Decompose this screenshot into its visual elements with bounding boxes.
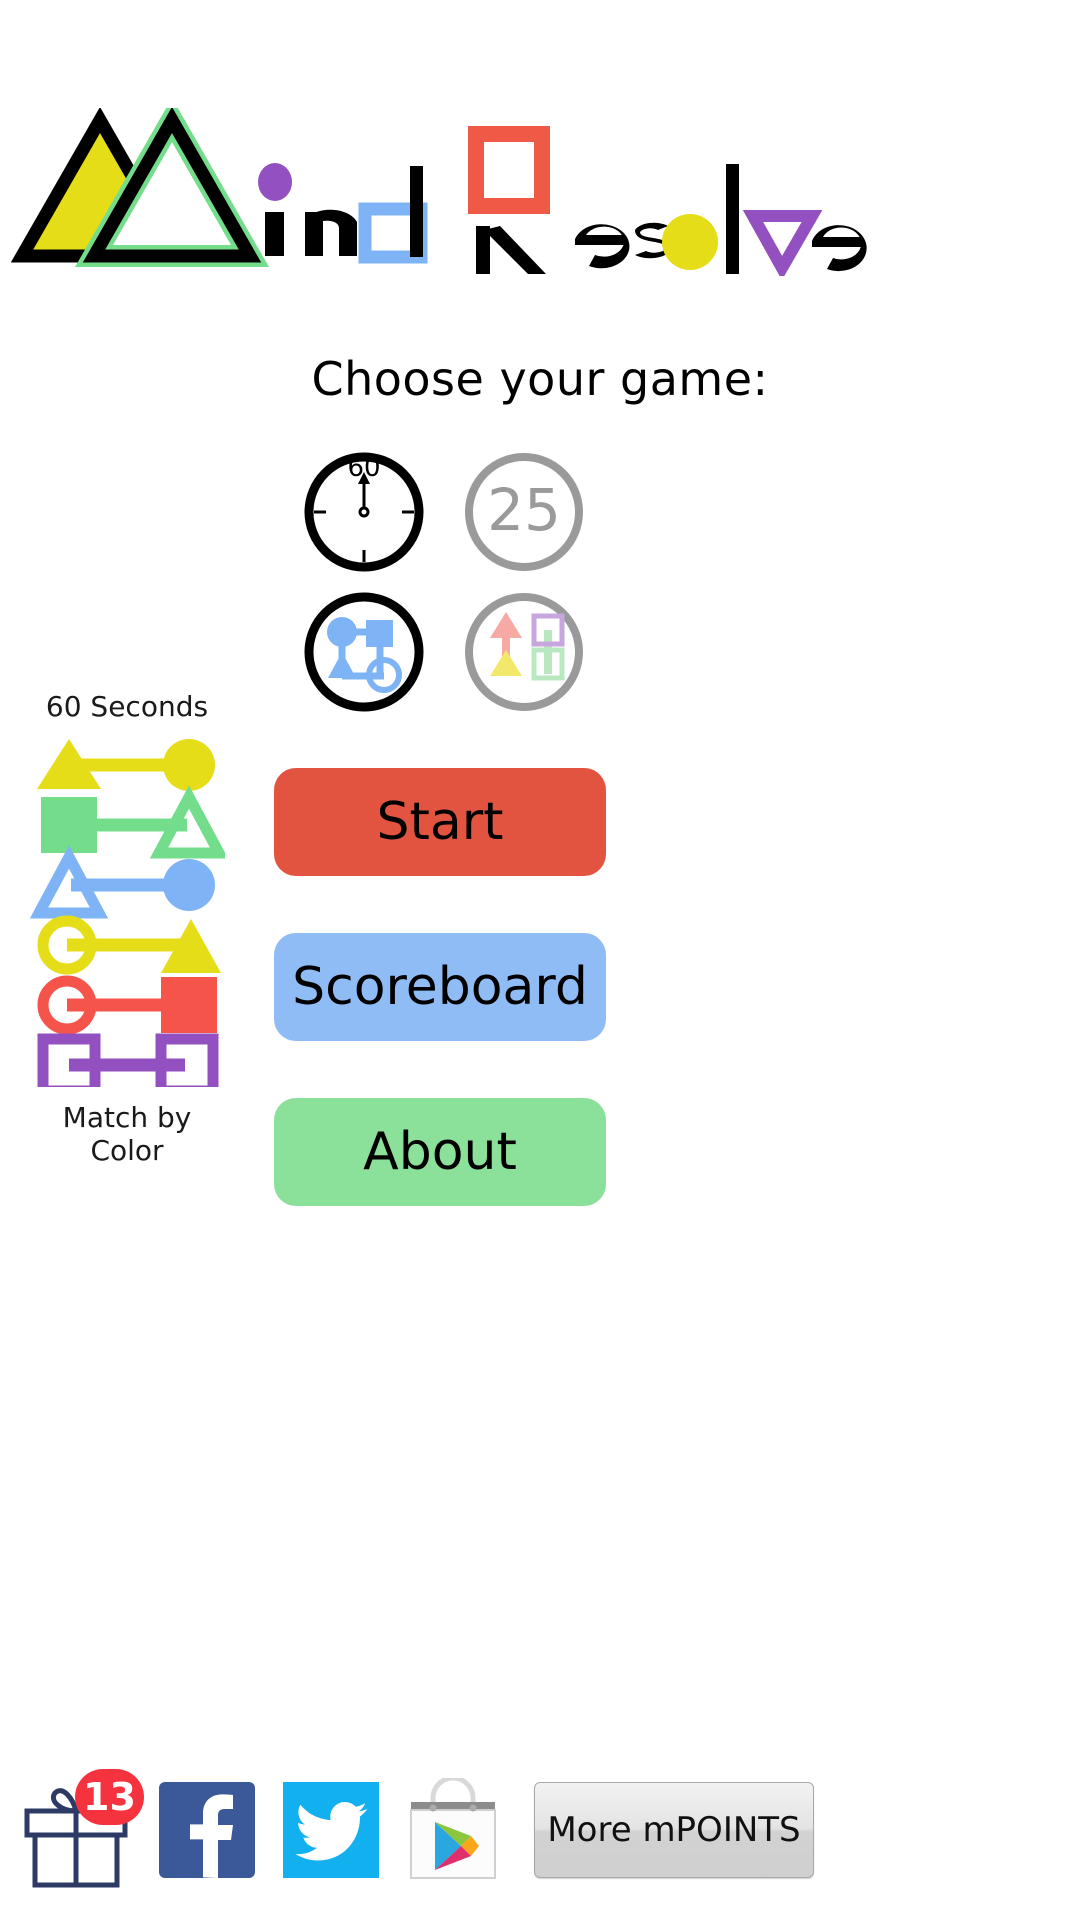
preview-row-5	[43, 977, 217, 1033]
app-screen: Choose your game: 60 25	[0, 0, 1080, 1920]
gift-button[interactable]: 13	[6, 1740, 156, 1920]
logo-e2	[812, 225, 867, 271]
mode-option-match-by-color[interactable]	[300, 588, 428, 716]
logo-i-purple-dot	[258, 163, 292, 201]
mode-option-60-seconds[interactable]: 60	[300, 448, 428, 576]
match-by-color-icon	[300, 588, 428, 716]
preview-row-6	[43, 1039, 213, 1087]
logo-d-stem	[410, 166, 423, 257]
logo-e1	[575, 224, 629, 268]
match-by-shape-icon	[460, 588, 588, 716]
more-mpoints-container: More mPOINTS	[532, 1740, 816, 1920]
logo-v-purple-triangle	[753, 216, 812, 268]
preview-title: 60 Seconds	[22, 690, 232, 723]
logo-o-yellow-circle	[662, 214, 718, 270]
circle-25-label: 25	[487, 476, 561, 544]
google-play-button[interactable]	[404, 1740, 502, 1920]
circle-25-icon: 25	[460, 448, 588, 576]
twitter-button[interactable]	[282, 1740, 380, 1920]
clock-60-icon: 60	[300, 448, 428, 576]
twitter-icon	[283, 1782, 379, 1878]
mode-option-25-seconds[interactable]: 25	[460, 448, 588, 576]
about-button[interactable]: About	[274, 1098, 606, 1206]
app-logo	[0, 108, 1080, 276]
preview-row-4	[43, 919, 221, 973]
logo-r-leg	[484, 226, 546, 274]
preview-row-2	[41, 797, 219, 853]
more-mpoints-button[interactable]: More mPOINTS	[534, 1782, 814, 1878]
facebook-button[interactable]	[158, 1740, 256, 1920]
gift-badge-count: 13	[75, 1769, 144, 1825]
logo-r-red-square	[476, 134, 542, 206]
preview-row-1	[37, 739, 215, 791]
facebook-icon	[159, 1782, 255, 1878]
logo-i-stem	[265, 212, 284, 256]
game-preview-panel: 60 Seconds	[22, 690, 232, 1167]
choose-your-game-heading: Choose your game:	[0, 352, 1080, 406]
google-play-bag-icon	[405, 1778, 501, 1882]
bottom-toolbar: 13	[0, 1740, 1080, 1920]
mode-option-match-by-shape[interactable]	[460, 588, 588, 716]
preview-rows	[22, 737, 232, 1087]
logo-n	[305, 210, 357, 256]
game-mode-selector: 60 25	[300, 448, 720, 730]
scoreboard-button[interactable]: Scoreboard	[274, 933, 606, 1041]
start-button[interactable]: Start	[274, 768, 606, 876]
logo-l-stem	[726, 164, 739, 274]
preview-row-3	[39, 857, 215, 913]
preview-caption: Match by Color	[22, 1101, 232, 1167]
